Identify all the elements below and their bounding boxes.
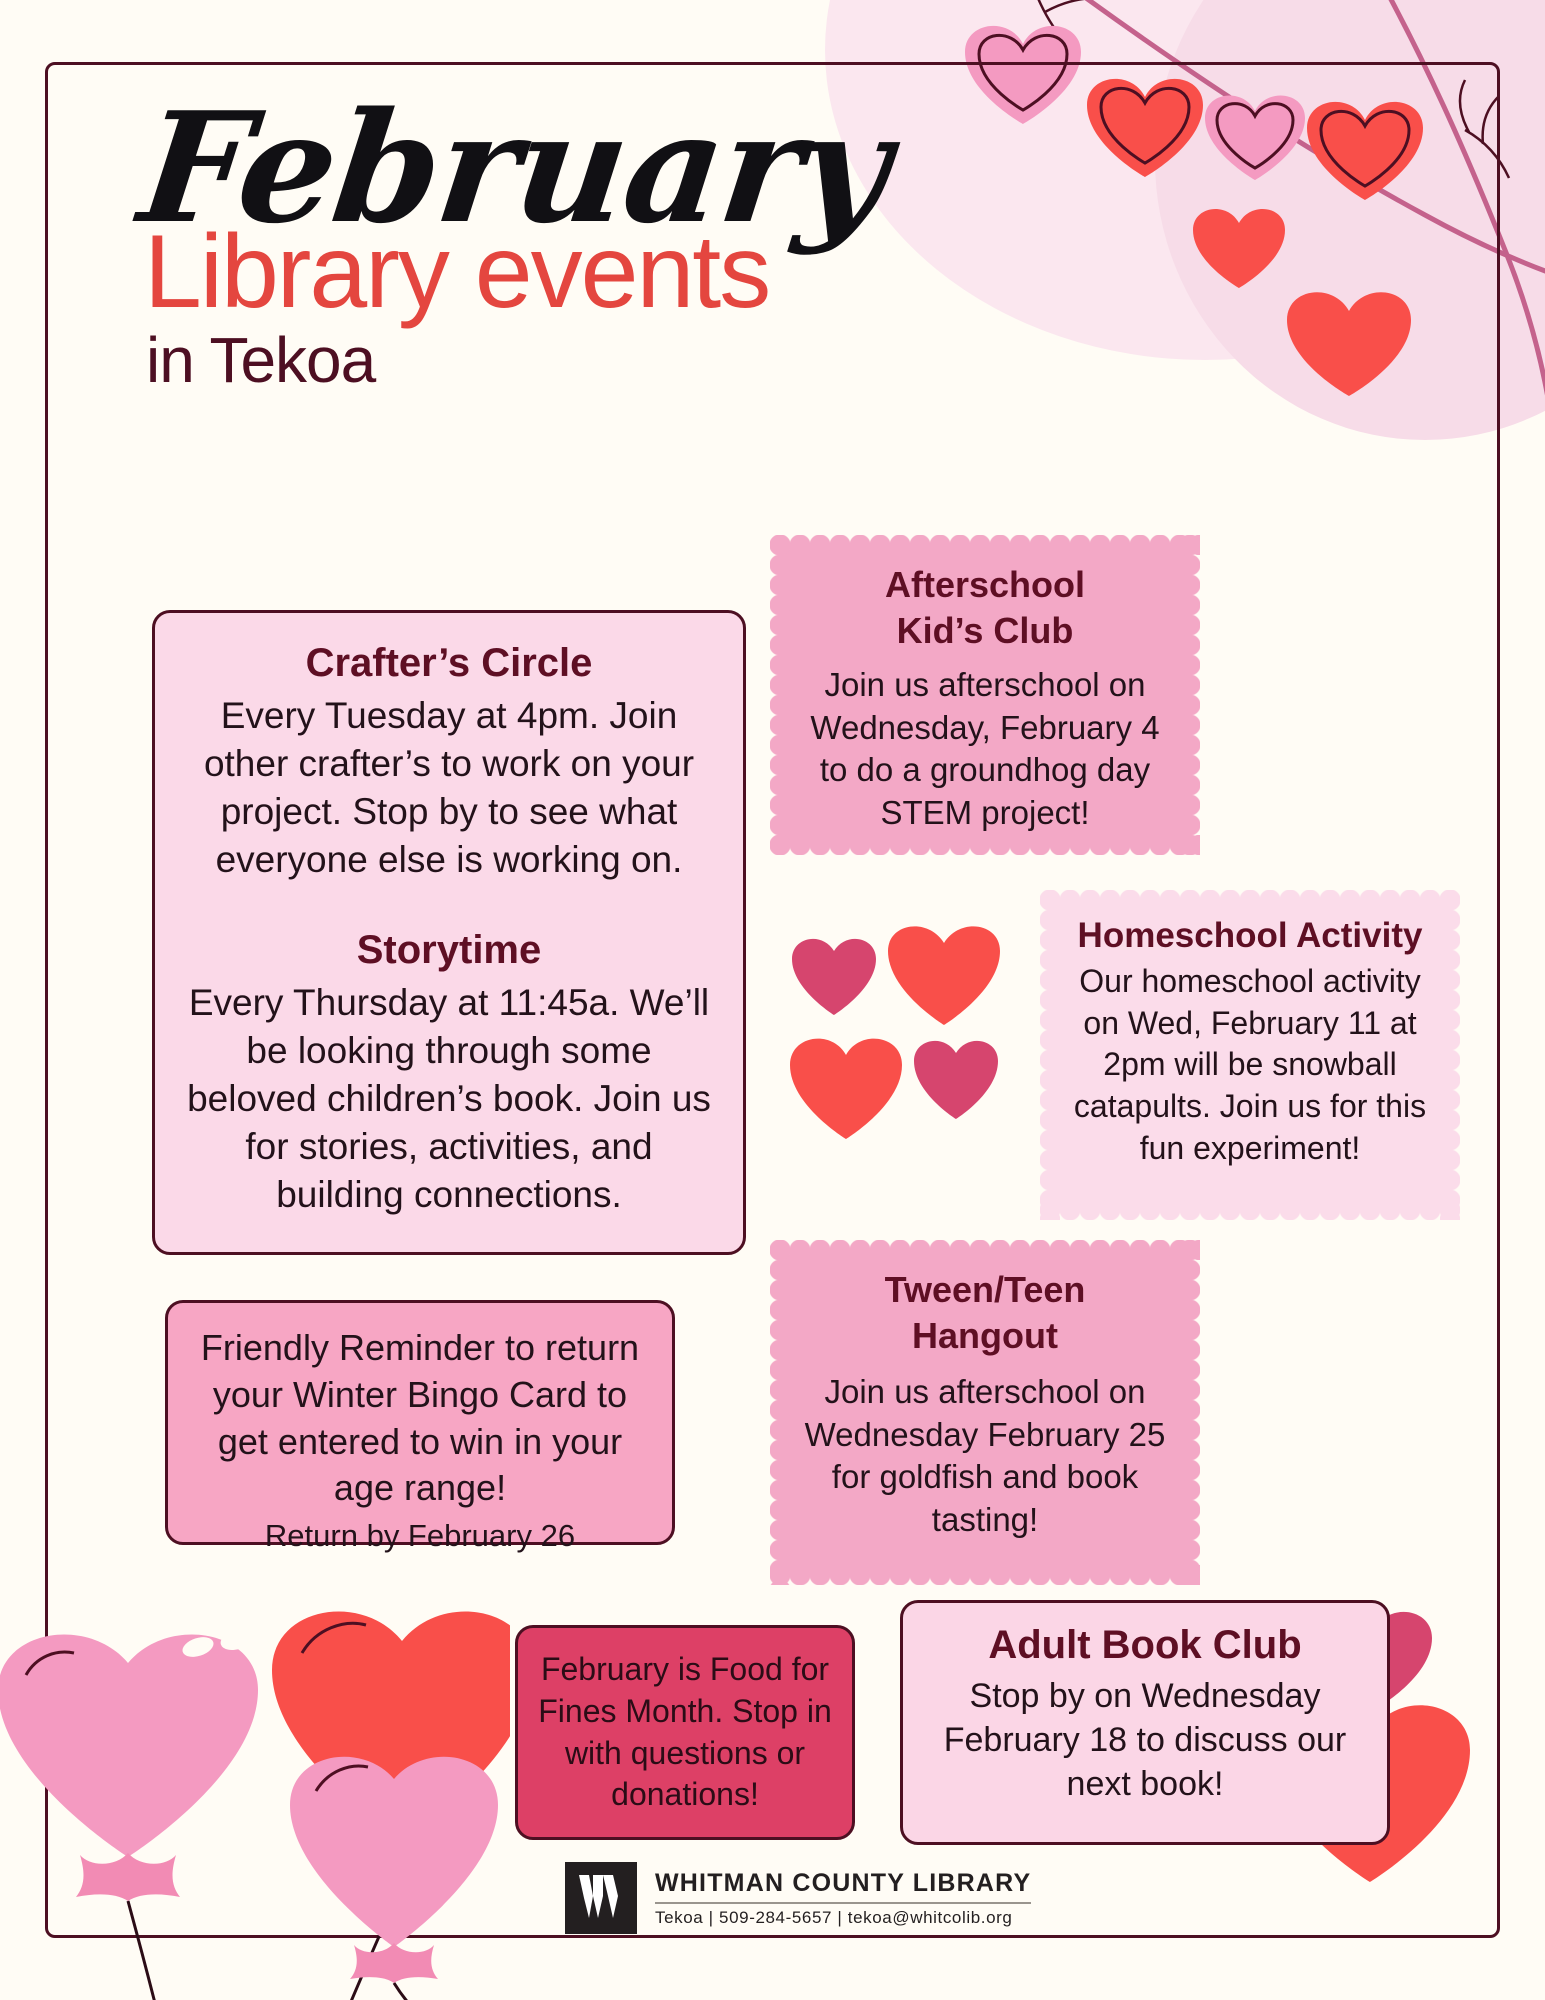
afterschool-heading-line2: Kid’s Club: [804, 611, 1166, 651]
card-afterschool-kids-club: Afterschool Kid’s Club Join us afterscho…: [770, 535, 1200, 855]
homeschool-body: Our homeschool activity on Wed, February…: [1066, 961, 1434, 1169]
library-name: WHITMAN COUNTY LIBRARY: [655, 1871, 1031, 1896]
adultbook-body: Stop by on Wednesday February 18 to disc…: [929, 1674, 1361, 1807]
storytime-body: Every Thursday at 11:45a. We’ll be looki…: [185, 979, 713, 1219]
footer-divider: [655, 1902, 1031, 1904]
heart-cluster-icon: [790, 925, 1030, 1155]
crafters-body: Every Tuesday at 4pm. Join other crafter…: [185, 692, 713, 884]
footer-logo-block: WHITMAN COUNTY LIBRARY Tekoa | 509-284-5…: [565, 1862, 1031, 1934]
card-bingo-reminder: Friendly Reminder to return your Winter …: [165, 1300, 675, 1545]
reminder-body: Friendly Reminder to return your Winter …: [196, 1325, 644, 1512]
footer-text: WHITMAN COUNTY LIBRARY Tekoa | 509-284-5…: [655, 1871, 1031, 1926]
card-food-for-fines: February is Food for Fines Month. Stop i…: [515, 1625, 855, 1840]
poster-canvas: February Library events in Tekoa Crafter…: [0, 0, 1545, 2000]
card-homeschool-activity: Homeschool Activity Our homeschool activ…: [1040, 890, 1460, 1220]
fines-body: February is Food for Fines Month. Stop i…: [538, 1649, 832, 1815]
reminder-note: Return by February 26: [196, 1516, 644, 1556]
storytime-heading: Storytime: [185, 928, 713, 973]
afterschool-heading-line1: Afterschool: [804, 565, 1166, 605]
title-subtitle: in Tekoa: [146, 328, 1008, 392]
crafters-heading: Crafter’s Circle: [185, 641, 713, 686]
library-contact: Tekoa | 509-284-5657 | tekoa@whitcolib.o…: [655, 1909, 1031, 1926]
title-script: February: [134, 100, 1025, 237]
card-spacer: [185, 884, 713, 928]
tween-heading-line2: Hangout: [800, 1316, 1170, 1356]
card-crafters-storytime: Crafter’s Circle Every Tuesday at 4pm. J…: [152, 610, 746, 1255]
homeschool-heading: Homeschool Activity: [1066, 916, 1434, 955]
tween-body: Join us afterschool on Wednesday Februar…: [800, 1371, 1170, 1543]
card-tween-teen-hangout: Tween/Teen Hangout Join us afterschool o…: [770, 1240, 1200, 1585]
tween-heading-line1: Tween/Teen: [800, 1270, 1170, 1310]
afterschool-body: Join us afterschool on Wednesday, Februa…: [804, 664, 1166, 836]
card-adult-book-club: Adult Book Club Stop by on Wednesday Feb…: [900, 1600, 1390, 1845]
heart-balloons-icon: [0, 1575, 510, 2000]
adultbook-heading: Adult Book Club: [929, 1623, 1361, 1668]
whitman-w-logo-icon: [565, 1862, 637, 1934]
masthead: February Library events in Tekoa: [128, 100, 1008, 392]
